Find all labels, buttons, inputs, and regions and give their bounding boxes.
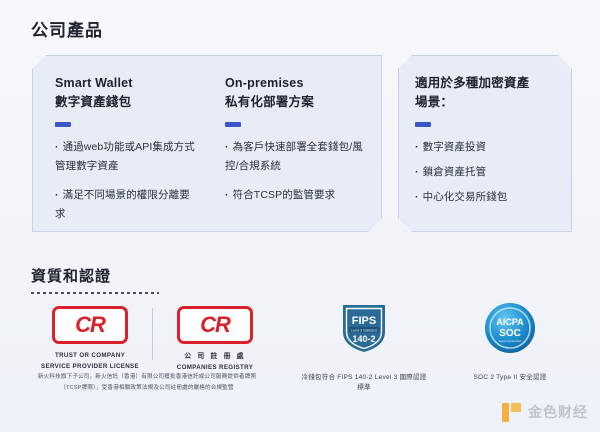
soc-certification: AICPA SOC aicpa.org/soc4so SOC 2 Type II… — [440, 302, 580, 383]
list-item: 數字資產投資 — [415, 138, 559, 158]
list-item: 鎖倉資產托管 — [415, 163, 559, 183]
cr-trust-license-logo: CR TRUST OR COMPANY SERVICE PROVIDER LIC… — [36, 306, 144, 372]
fips-certification: FIPS Level 3 Validated 140-2 冷錢包符合 FIPS … — [300, 302, 428, 393]
product-title-cn: 場景： — [415, 93, 559, 112]
list-item: 符合TCSP的監管要求 — [225, 186, 367, 205]
accent-bar — [415, 122, 431, 127]
watermark-text: 金色财经 — [528, 402, 588, 422]
product-card-left: Smart Wallet 數字資產錢包 通過web功能或API集成方式管理數字資… — [32, 55, 382, 232]
list-item: 通過web功能或API集成方式管理數字資產 — [55, 138, 197, 177]
product-title-block: On-premises 私有化部署方案 — [225, 74, 367, 113]
svg-text:140-2: 140-2 — [352, 334, 375, 344]
heading-dotted-divider — [31, 292, 159, 294]
svg-text:aicpa.org/soc4so: aicpa.org/soc4so — [499, 339, 522, 343]
cr-badge-icon: CR — [177, 306, 253, 344]
list-item: 中心化交易所錢包 — [415, 188, 559, 208]
product-title-en: 適用於多種加密資產 — [415, 74, 559, 93]
soc-caption: SOC 2 Type II 安全認證 — [440, 373, 580, 383]
jinse-logo-icon — [502, 403, 521, 422]
certification-footnote: 新火科技旗下子公司。新火信託（香港）有限公司獲批香港信託或公司服務提供者牌照（T… — [32, 372, 262, 394]
product-column-smart-wallet: Smart Wallet 數字資產錢包 通過web功能或API集成方式管理數字資… — [33, 56, 211, 231]
product-title-en: Smart Wallet — [55, 74, 197, 93]
aicpa-soc-icon: AICPA SOC aicpa.org/soc4so — [484, 302, 536, 354]
svg-text:FIPS: FIPS — [352, 315, 376, 327]
cr-mark-text: CR — [75, 314, 105, 336]
svg-text:Level 3 Validated: Level 3 Validated — [351, 328, 377, 332]
watermark: 金色财经 — [502, 402, 588, 422]
product-column-use-cases: 適用於多種加密資產 場景： 數字資產投資 鎖倉資產托管 中心化交易所錢包 — [399, 56, 571, 208]
list-item: 滿足不同場景的權限分離要求 — [55, 186, 197, 225]
vertical-divider — [152, 308, 153, 360]
product-title-block: 適用於多種加密資產 場景： — [415, 74, 559, 113]
products-heading: 公司產品 — [31, 16, 103, 41]
cr-caption-line1: 公 司 註 冊 處 — [161, 351, 269, 363]
fips-caption: 冷錢包符合 FIPS 140-2 Level 3 國際認證標準 — [300, 373, 428, 393]
product-column-on-premises: On-premises 私有化部署方案 為客戶快速部署全套錢包/風控/合規系統 … — [211, 56, 381, 231]
cr-logo-group: CR TRUST OR COMPANY SERVICE PROVIDER LIC… — [36, 306, 269, 373]
list-item: 為客戶快速部署全套錢包/風控/合規系統 — [225, 138, 367, 177]
certifications-heading: 資質和認證 — [31, 265, 111, 286]
cr-mark-text: CR — [200, 314, 230, 336]
cr-caption-line2: SERVICE PROVIDER LICENSE — [36, 362, 144, 373]
accent-bar — [55, 122, 71, 127]
svg-text:AICPA: AICPA — [496, 317, 524, 327]
accent-bar — [225, 122, 241, 127]
product-title-block: Smart Wallet 數字資產錢包 — [55, 74, 197, 113]
cr-badge-icon: CR — [52, 306, 128, 344]
product-title-cn: 私有化部署方案 — [225, 93, 367, 112]
cr-caption-line1: TRUST OR COMPANY — [36, 351, 144, 362]
product-title-cn: 數字資產錢包 — [55, 93, 197, 112]
cr-companies-registry-logo: CR 公 司 註 冊 處 COMPANIES REGISTRY — [161, 306, 269, 373]
product-bullet-list: 為客戶快速部署全套錢包/風控/合規系統 符合TCSP的監管要求 — [225, 138, 367, 205]
fips-shield-icon: FIPS Level 3 Validated 140-2 — [340, 302, 388, 354]
slide-root: 公司產品 Smart Wallet 數字資產錢包 通過web功能或API集成方式… — [0, 0, 600, 432]
product-title-en: On-premises — [225, 74, 367, 93]
product-bullet-list: 通過web功能或API集成方式管理數字資產 滿足不同場景的權限分離要求 — [55, 138, 197, 225]
product-card-right: 適用於多種加密資產 場景： 數字資產投資 鎖倉資產托管 中心化交易所錢包 — [398, 55, 572, 232]
product-bullet-list: 數字資產投資 鎖倉資產托管 中心化交易所錢包 — [415, 138, 559, 208]
svg-text:SOC: SOC — [499, 328, 521, 339]
